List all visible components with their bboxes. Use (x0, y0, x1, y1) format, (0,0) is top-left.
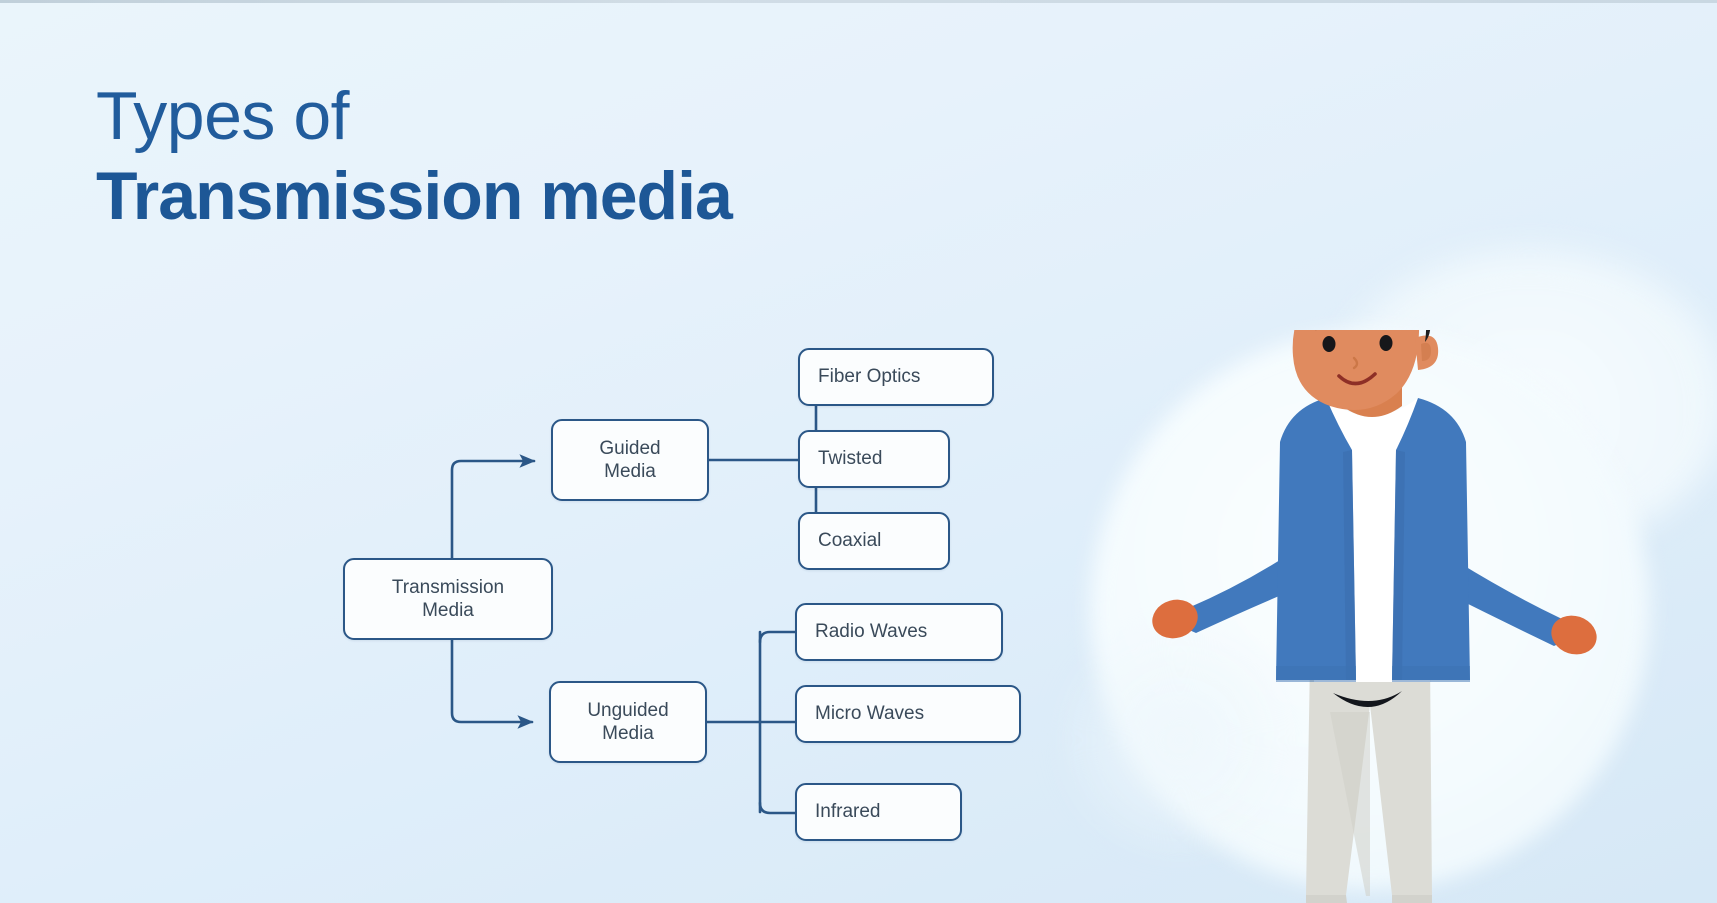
node-fiber-optics-label: Fiber Optics (818, 365, 920, 388)
title-line-1: Types of (96, 82, 732, 150)
node-label-line-1: Unguided (587, 700, 668, 721)
node-twisted[interactable]: Twisted (798, 430, 950, 488)
node-unguided-media[interactable]: Unguided Media (549, 681, 707, 763)
node-fiber-optics[interactable]: Fiber Optics (798, 348, 994, 406)
node-infrared-label: Infrared (815, 800, 880, 823)
edge-root-to-guided (452, 461, 534, 558)
eye-left (1323, 336, 1336, 352)
node-guided-media-label: Guided Media (599, 437, 660, 483)
node-coaxial[interactable]: Coaxial (798, 512, 950, 570)
node-transmission-media-label: Transmission Media (392, 576, 504, 622)
pants (1306, 660, 1432, 903)
eye-right (1380, 335, 1393, 351)
node-radio-waves[interactable]: Radio Waves (795, 603, 1003, 661)
page-title: Types of Transmission media (96, 82, 732, 230)
slide-canvas: Types of Transmission media (0, 0, 1717, 903)
node-radio-waves-label: Radio Waves (815, 620, 927, 643)
title-line-2: Transmission media (96, 162, 732, 230)
head (1293, 330, 1439, 410)
node-transmission-media[interactable]: Transmission Media (343, 558, 553, 640)
node-micro-waves-label: Micro Waves (815, 702, 924, 725)
node-label-line-2: Media (602, 723, 654, 744)
node-infrared[interactable]: Infrared (795, 783, 962, 841)
left-arm (1148, 560, 1298, 644)
illustration-man (1130, 330, 1690, 903)
top-edge-strip (0, 0, 1717, 3)
node-unguided-media-label: Unguided Media (587, 699, 668, 745)
node-label-line-2: Media (422, 600, 474, 621)
node-label-line-1: Guided (599, 438, 660, 459)
node-guided-media[interactable]: Guided Media (551, 419, 709, 501)
node-twisted-label: Twisted (818, 447, 882, 470)
node-label-line-1: Transmission (392, 577, 504, 598)
node-coaxial-label: Coaxial (818, 529, 881, 552)
node-micro-waves[interactable]: Micro Waves (795, 685, 1021, 743)
node-label-line-2: Media (604, 461, 656, 482)
edge-root-to-unguided (452, 640, 532, 722)
